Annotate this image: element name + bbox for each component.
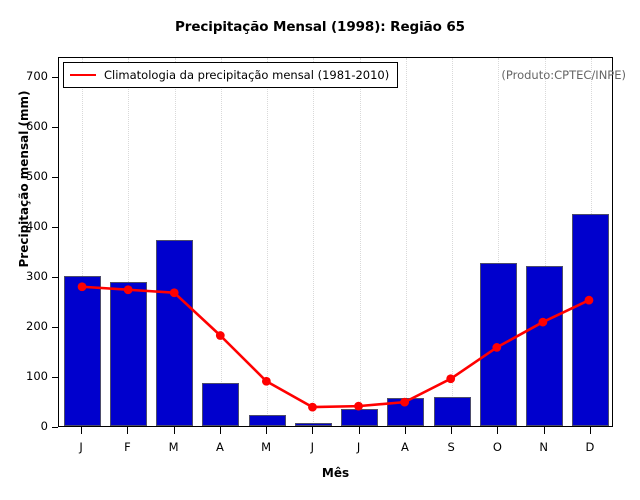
y-tick-mark-200 xyxy=(52,327,58,328)
plot-area xyxy=(58,57,613,427)
x-tick-label-4: M xyxy=(246,440,286,454)
x-tick-label-9: O xyxy=(477,440,517,454)
bar-2 xyxy=(156,240,193,427)
y-tick-label-300: 300 xyxy=(4,271,48,283)
x-tick-mark-4 xyxy=(266,427,267,434)
y-tick-mark-300 xyxy=(52,277,58,278)
y-tick-label-100: 100 xyxy=(4,371,48,383)
x-tick-label-7: A xyxy=(385,440,425,454)
x-tick-label-1: F xyxy=(107,440,147,454)
grid-line-s-8 xyxy=(452,58,453,426)
y-tick-mark-600 xyxy=(52,127,58,128)
bar-1 xyxy=(110,282,147,426)
x-tick-mark-11 xyxy=(590,427,591,434)
grid-line-a-7 xyxy=(406,58,407,426)
x-axis-label: Mês xyxy=(58,466,613,480)
x-tick-mark-7 xyxy=(405,427,406,434)
chart-figure: Precipitação Mensal (1998): Região 65 Pr… xyxy=(0,0,640,500)
y-tick-mark-500 xyxy=(52,177,58,178)
climatology-point-8 xyxy=(446,374,455,383)
y-tick-mark-100 xyxy=(52,377,58,378)
x-tick-mark-10 xyxy=(544,427,545,434)
x-tick-label-6: J xyxy=(339,440,379,454)
legend-line-swatch-icon xyxy=(70,69,96,81)
y-tick-label-700: 700 xyxy=(4,71,48,83)
bar-7 xyxy=(387,398,424,427)
x-tick-mark-9 xyxy=(497,427,498,434)
x-tick-mark-0 xyxy=(81,427,82,434)
y-tick-label-600: 600 xyxy=(4,121,48,133)
bar-3 xyxy=(202,383,239,426)
chart-title: Precipitação Mensal (1998): Região 65 xyxy=(0,19,640,35)
x-tick-mark-1 xyxy=(127,427,128,434)
bar-4 xyxy=(249,415,286,427)
x-tick-label-8: S xyxy=(431,440,471,454)
x-tick-mark-3 xyxy=(220,427,221,434)
y-tick-label-0: 0 xyxy=(4,421,48,433)
y-tick-label-500: 500 xyxy=(4,171,48,183)
x-tick-label-0: J xyxy=(61,440,101,454)
bar-11 xyxy=(572,214,609,426)
x-tick-mark-8 xyxy=(451,427,452,434)
y-tick-mark-700 xyxy=(52,77,58,78)
bar-10 xyxy=(526,266,563,426)
y-tick-label-400: 400 xyxy=(4,221,48,233)
chart-legend: Climatologia da precipitação mensal (198… xyxy=(63,62,398,88)
grid-line-j-6 xyxy=(360,58,361,426)
x-tick-label-11: D xyxy=(570,440,610,454)
x-tick-label-2: M xyxy=(154,440,194,454)
x-tick-mark-5 xyxy=(312,427,313,434)
x-tick-mark-2 xyxy=(174,427,175,434)
bar-8 xyxy=(434,397,471,427)
y-tick-mark-400 xyxy=(52,227,58,228)
y-tick-mark-0 xyxy=(52,427,58,428)
y-tick-label-200: 200 xyxy=(4,321,48,333)
grid-line-m-4 xyxy=(267,58,268,426)
legend-entry-label: Climatologia da precipitação mensal (198… xyxy=(104,68,389,82)
grid-line-j-5 xyxy=(313,58,314,426)
producer-annotation: (Produto:CPTEC/INPE) xyxy=(501,68,626,82)
bar-6 xyxy=(341,409,378,426)
x-tick-label-3: A xyxy=(200,440,240,454)
bar-0 xyxy=(64,276,101,427)
x-tick-label-5: J xyxy=(292,440,332,454)
x-tick-label-10: N xyxy=(524,440,564,454)
x-tick-mark-6 xyxy=(359,427,360,434)
bar-5 xyxy=(295,423,332,426)
bar-9 xyxy=(480,263,517,427)
grid-line-a-3 xyxy=(221,58,222,426)
